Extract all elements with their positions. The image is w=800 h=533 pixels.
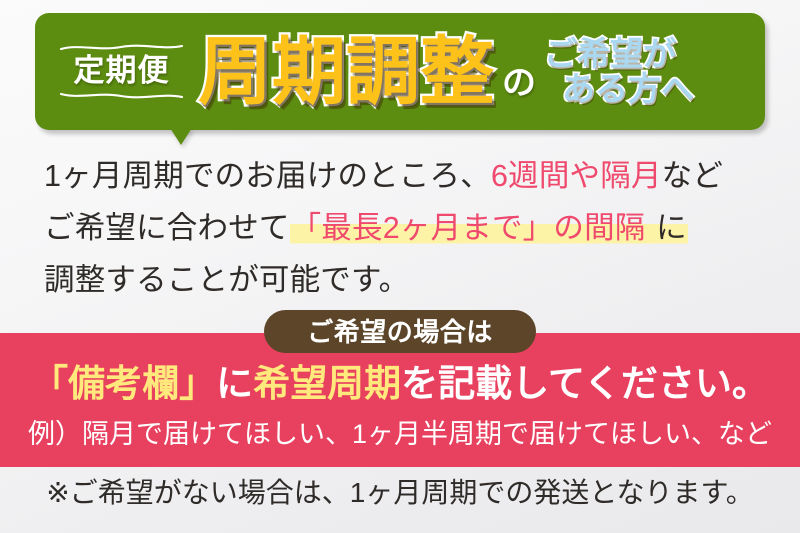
body-paragraph: 1ヶ月周期でのお届けのところ、6週間や隔月など ご希望に合わせて「最長2ヶ月まで… [44, 150, 774, 306]
body-line-1-part-c: や [570, 159, 601, 193]
wavy-rule-bottom-icon [59, 91, 184, 100]
band-headline-part-b: に [216, 363, 253, 404]
promo-banner: 定期便 周期調整 の ご希望が ある方へ 1ヶ月周期でのお届けのところ、6週間や… [0, 0, 800, 533]
body-line-2-part-a: ご希望に合わせて [44, 211, 290, 245]
footer-note: ※ご希望がない場合は、1ヶ月周期での発送となります。 [0, 478, 800, 509]
subscription-tag-label: 定期便 [74, 55, 170, 88]
band-headline: 「備考欄」に希望周期を記載してください。 [0, 364, 800, 405]
body-line-3: 調整することが可能です。 [44, 254, 774, 306]
band-headline-part-d: を記載してください。 [401, 363, 769, 404]
body-line-1: 1ヶ月周期でのお届けのところ、6週間や隔月など [44, 150, 774, 202]
header-wish-text: ご希望が ある方へ [544, 37, 694, 107]
wavy-rule-top-icon [59, 43, 184, 52]
header-wish-line-1: ご希望が [544, 37, 694, 72]
header-wish-line-2: ある方へ [562, 72, 694, 107]
body-line-2-part-c: に [646, 211, 687, 245]
band-headline-desired-cycle: 希望周期 [253, 363, 401, 404]
body-line-1-part-e: など [662, 159, 723, 193]
body-line-1-highlight-6weeks: 6週間 [491, 159, 570, 193]
header-speech-tail [170, 128, 192, 145]
body-line-1-part-a: 1ヶ月周期でのお届けのところ、 [44, 159, 491, 193]
body-line-2-highlight-max-interval: 「最長2ヶ月まで」の間隔 [290, 211, 647, 245]
request-case-badge-label: ご希望の場合は [307, 319, 493, 345]
header-main-title: 周期調整 [198, 35, 494, 109]
band-example-text: 例）隔月で届けてほしい、1ヶ月半周期で届けてほしい、など [0, 420, 800, 450]
body-line-1-highlight-bimonthly: 隔月 [600, 159, 661, 193]
header-green-panel: 定期便 周期調整 の ご希望が ある方へ [35, 13, 765, 130]
header-content-row: 定期便 周期調整 の ご希望が ある方へ [35, 13, 765, 130]
subscription-tag: 定期便 [59, 43, 184, 100]
body-line-2: ご希望に合わせて「最長2ヶ月まで」の間隔 に [44, 202, 774, 254]
band-headline-remarks-field: 「備考欄」 [31, 363, 216, 404]
request-case-badge: ご希望の場合は [264, 310, 536, 353]
header-particle: の [502, 66, 536, 100]
